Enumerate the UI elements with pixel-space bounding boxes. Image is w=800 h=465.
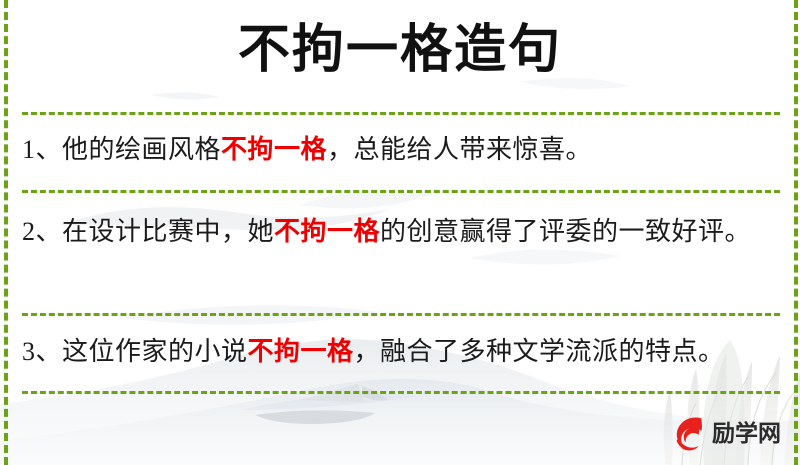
site-logo[interactable]: 励学网 — [668, 409, 790, 457]
separator-line-2 — [22, 190, 780, 193]
sentence-1-index: 1、 — [22, 135, 62, 164]
sentence-2-index: 2、 — [22, 217, 62, 246]
site-logo-text: 励学网 — [712, 412, 781, 454]
separator-line-3 — [22, 313, 780, 316]
red-swirl-phoenix-mark-icon — [668, 412, 710, 454]
sentence-1-text-after: ，总能给人带来惊喜。 — [327, 135, 592, 164]
sentence-item-2: 2、在设计比赛中，她不拘一格的创意赢得了评委的一致好评。 — [22, 210, 774, 253]
sentence-1-text-before: 他的绘画风格 — [62, 135, 221, 164]
sentence-2-text-before: 在设计比赛中，她 — [62, 217, 274, 246]
sentence-item-3: 3、这位作家的小说不拘一格，融合了多种文学流派的特点。 — [22, 330, 774, 373]
sentence-1-idiom: 不拘一格 — [221, 135, 327, 164]
sentence-3-text-before: 这位作家的小说 — [62, 337, 248, 366]
sentence-item-1: 1、他的绘画风格不拘一格，总能给人带来惊喜。 — [22, 128, 774, 171]
sentence-3-idiom: 不拘一格 — [248, 337, 354, 366]
separator-line-1 — [22, 112, 780, 115]
page-title: 不拘一格造句 — [0, 18, 800, 84]
page-root: 不拘一格造句 1、他的绘画风格不拘一格，总能给人带来惊喜。 2、在设计比赛中，她… — [0, 0, 800, 465]
separator-line-4 — [22, 391, 780, 394]
sentence-3-index: 3、 — [22, 337, 62, 366]
sentence-3-text-after: ，融合了多种文学流派的特点。 — [354, 337, 725, 366]
sentence-2-idiom: 不拘一格 — [274, 217, 380, 246]
sentence-2-text-after: 的创意赢得了评委的一致好评。 — [380, 217, 751, 246]
